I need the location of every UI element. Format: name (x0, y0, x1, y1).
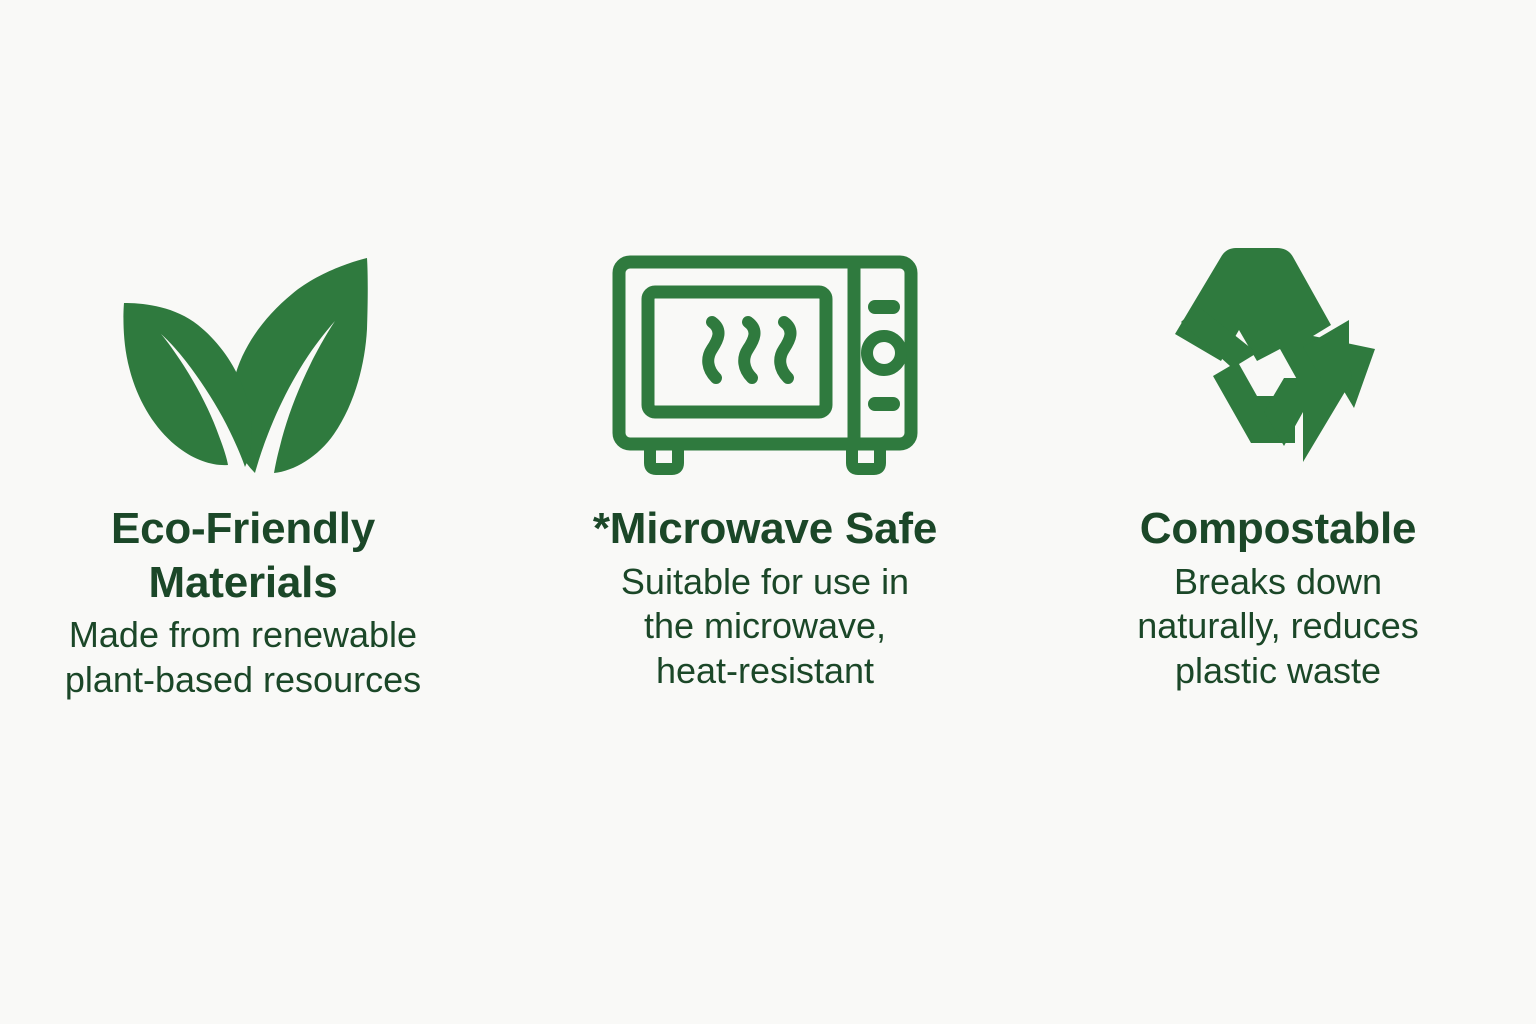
feature-description: Made from renewable plant-based resource… (65, 613, 421, 702)
feature-title: Compostable (1140, 502, 1417, 556)
feature-card-compostable: Compostable Breaks down naturally, reduc… (1068, 230, 1488, 694)
feature-title: Eco-Friendly Materials (63, 502, 423, 609)
recycle-icon (1153, 230, 1403, 480)
feature-card-eco-friendly-materials: Eco-Friendly Materials Made from renewab… (0, 230, 486, 703)
leaf-icon (118, 230, 368, 480)
features-row: Eco-Friendly Materials Made from renewab… (0, 230, 1536, 703)
product-features-board: Eco-Friendly Materials Made from renewab… (0, 0, 1536, 1024)
feature-title: *Microwave Safe (593, 502, 937, 556)
feature-description: Suitable for use in the microwave, heat-… (621, 560, 909, 694)
feature-description: Breaks down naturally, reduces plastic w… (1137, 560, 1418, 694)
microwave-icon (600, 230, 930, 480)
feature-card-microwave-safe: *Microwave Safe Suitable for use in the … (530, 230, 1000, 694)
